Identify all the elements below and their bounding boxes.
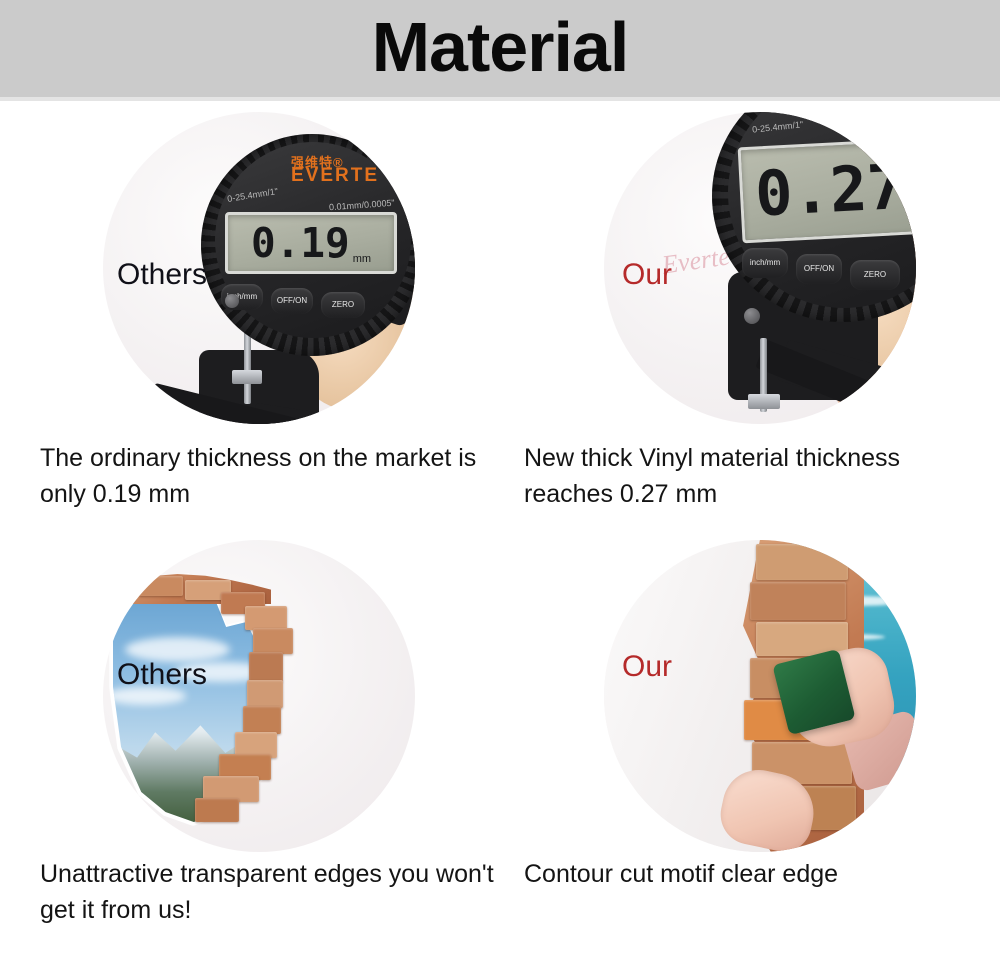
header-banner: Material (0, 0, 1000, 97)
button-off-on[interactable]: OFF/ON (796, 254, 842, 284)
gauge-lcd-display: 0.19 mm (225, 212, 397, 274)
circular-photo-gauge-others: 强维特® EVERTE 0-25.4mm/1" 0.01mm/0.0005" 0… (103, 112, 415, 424)
lcd-unit: mm (353, 253, 371, 265)
panel-photo-others-edges: Others (18, 541, 500, 851)
page-title: Material (372, 12, 629, 82)
brick (247, 680, 283, 708)
panel-photo-our-thickness: Everte 0-25.4mm/1" 0.01mm/0.0005" (510, 109, 992, 427)
button-zero[interactable]: ZERO (850, 260, 900, 290)
panel-photo-our-edges: Our (510, 541, 992, 851)
brick (139, 576, 183, 596)
brick-hole-decal (103, 540, 415, 852)
button-inch-mm[interactable]: inch/mm (742, 248, 788, 278)
panel-others-edges: Others Unattractive transparent edges yo… (18, 541, 500, 960)
badge-our: Our (622, 260, 672, 290)
probe-tip (232, 370, 262, 384)
comparison-grid: 强维特® EVERTE 0-25.4mm/1" 0.01mm/0.0005" 0… (0, 101, 1000, 960)
circular-photo-decal-others: Others (103, 540, 415, 852)
lcd-reading: 0.27 (754, 156, 906, 226)
material-comparison-page: Material (0, 0, 1000, 960)
circular-photo-gauge-our: Everte 0-25.4mm/1" 0.01mm/0.0005" (604, 112, 916, 424)
gauge-brand-en: EVERTE (291, 165, 379, 187)
badge-others: Others (117, 260, 207, 290)
brick (243, 706, 281, 734)
brick (253, 628, 293, 654)
circular-photo-decal-our: Our (604, 540, 916, 852)
caption-our-edges: Contour cut motif clear edge (510, 857, 992, 893)
panel-our-thickness: Everte 0-25.4mm/1" 0.01mm/0.0005" (510, 109, 992, 539)
adjust-screw (225, 294, 239, 308)
brick (756, 544, 848, 580)
brick (249, 652, 283, 682)
badge-our: Our (622, 652, 672, 682)
brick (750, 582, 846, 620)
brick (245, 606, 287, 630)
badge-others: Others (117, 660, 207, 690)
caption-others-thickness: The ordinary thickness on the market is … (18, 441, 500, 512)
button-off-on[interactable]: OFF/ON (271, 288, 313, 314)
brick (195, 798, 239, 822)
adjust-screw (744, 308, 760, 324)
lcd-unit: mm (908, 200, 916, 217)
probe-tip (748, 394, 780, 409)
gauge-lcd-display: 0.27 mm (738, 137, 916, 244)
panel-others-thickness: 强维特® EVERTE 0-25.4mm/1" 0.01mm/0.0005" 0… (18, 109, 500, 539)
lcd-reading: 0.19 (251, 223, 350, 264)
button-zero[interactable]: ZERO (321, 292, 365, 318)
panel-our-edges: Our Contour cut motif clear edge (510, 541, 992, 960)
panel-photo-others-thickness: 强维特® EVERTE 0-25.4mm/1" 0.01mm/0.0005" 0… (18, 109, 500, 427)
applying-decal-illustration (604, 540, 916, 852)
caption-our-thickness: New thick Vinyl material thickness reach… (510, 441, 992, 512)
caption-others-edges: Unattractive transparent edges you won't… (18, 857, 500, 928)
